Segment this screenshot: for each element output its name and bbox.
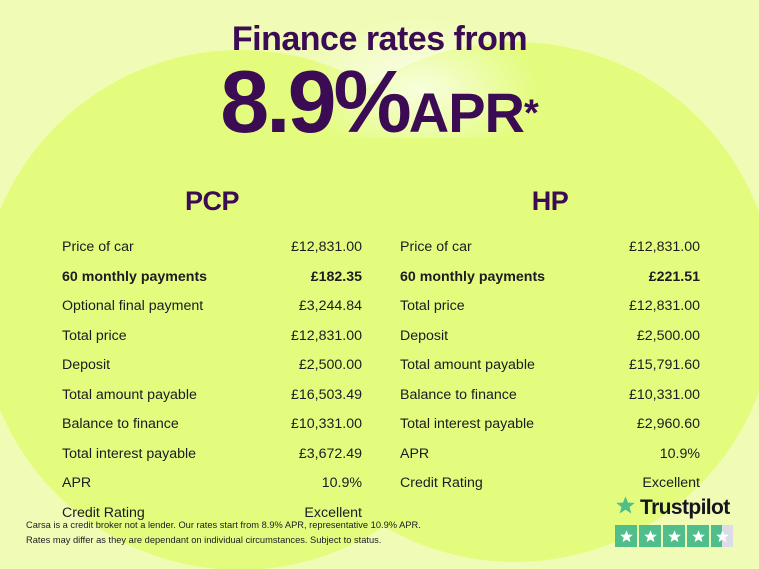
- plan-row-label: Total price: [62, 326, 127, 346]
- plan-row-label: 60 monthly payments: [62, 267, 207, 287]
- plan-row: APR10.9%: [400, 442, 700, 466]
- plan-row-label: Balance to finance: [62, 414, 179, 434]
- apr-headline: 8.9%APR*: [0, 58, 759, 146]
- plan-row-label: Total interest payable: [62, 444, 196, 464]
- trustpilot-name: Trustpilot: [640, 496, 730, 520]
- plan-row-value: £2,960.60: [637, 414, 700, 434]
- trustpilot-full-star-icon: [615, 525, 637, 547]
- plan-row-label: Deposit: [62, 355, 110, 375]
- plan-row: Optional final payment£3,244.84: [62, 294, 362, 318]
- plan-rows-hp: Price of car£12,831.0060 monthly payment…: [400, 235, 700, 495]
- plan-row: Total amount payable£16,503.49: [62, 383, 362, 407]
- plan-row-label: APR: [400, 444, 429, 464]
- apr-asterisk: *: [524, 93, 539, 135]
- plan-row-label: Credit Rating: [400, 473, 483, 493]
- plan-rows-pcp: Price of car£12,831.0060 monthly payment…: [62, 235, 362, 525]
- apr-rate-value: 8.9%: [220, 52, 409, 151]
- plan-row: APR10.9%: [62, 471, 362, 495]
- plan-row-label: Price of car: [62, 237, 134, 257]
- plan-row-value: Excellent: [642, 473, 700, 493]
- plan-row-value: £182.35: [311, 267, 362, 287]
- plan-row-value: 10.9%: [660, 444, 700, 464]
- plan-row-value: £3,672.49: [299, 444, 362, 464]
- plan-row-value: £12,831.00: [291, 237, 362, 257]
- infographic-canvas: Finance rates from 8.9%APR* PCP Price of…: [0, 0, 759, 569]
- trustpilot-badge[interactable]: Trustpilot: [615, 495, 737, 547]
- plan-row-label: 60 monthly payments: [400, 267, 545, 287]
- plan-row: Price of car£12,831.00: [400, 235, 700, 259]
- plan-row: Credit RatingExcellent: [400, 471, 700, 495]
- plan-row-value: £2,500.00: [637, 326, 700, 346]
- plan-row-value: £16,503.49: [291, 385, 362, 405]
- apr-unit-label: APR: [409, 81, 524, 144]
- plan-row-label: Optional final payment: [62, 296, 203, 316]
- plan-row-label: Total amount payable: [400, 355, 535, 375]
- plan-row-value: £10,331.00: [291, 414, 362, 434]
- trustpilot-star-icon: [615, 495, 636, 521]
- plan-row-value: 10.9%: [322, 473, 362, 493]
- plan-row: Total interest payable£2,960.60: [400, 412, 700, 436]
- plan-title-pcp: PCP: [62, 186, 362, 217]
- trustpilot-half-star-icon: [711, 525, 733, 547]
- plan-row: Balance to finance£10,331.00: [400, 383, 700, 407]
- trustpilot-wordmark: Trustpilot: [615, 495, 737, 521]
- plan-row-value: £3,244.84: [299, 296, 362, 316]
- plan-row-value: £2,500.00: [299, 355, 362, 375]
- plan-row-value: £15,791.60: [629, 355, 700, 375]
- plan-row: Deposit£2,500.00: [400, 324, 700, 348]
- plan-row: 60 monthly payments£182.35: [62, 265, 362, 289]
- plan-row: Total price£12,831.00: [62, 324, 362, 348]
- plan-row-value: £12,831.00: [291, 326, 362, 346]
- plan-row-label: Price of car: [400, 237, 472, 257]
- plan-column-pcp: PCP Price of car£12,831.0060 monthly pay…: [62, 186, 362, 530]
- disclaimer-line-1: Carsa is a credit broker not a lender. O…: [26, 518, 446, 532]
- trustpilot-star-rating: [615, 525, 737, 547]
- plan-row-label: Deposit: [400, 326, 448, 346]
- plan-row: Price of car£12,831.00: [62, 235, 362, 259]
- plan-title-hp: HP: [400, 186, 700, 217]
- plan-row-label: Total interest payable: [400, 414, 534, 434]
- plan-row: Balance to finance£10,331.00: [62, 412, 362, 436]
- plan-row-label: APR: [62, 473, 91, 493]
- plan-row-label: Balance to finance: [400, 385, 517, 405]
- content-layer: Finance rates from 8.9%APR* PCP Price of…: [0, 0, 759, 569]
- plan-row: 60 monthly payments£221.51: [400, 265, 700, 289]
- plan-row-label: Total price: [400, 296, 465, 316]
- plan-row-value: £10,331.00: [629, 385, 700, 405]
- trustpilot-full-star-icon: [639, 525, 661, 547]
- legal-disclaimer: Carsa is a credit broker not a lender. O…: [26, 518, 446, 547]
- disclaimer-line-2: Rates may differ as they are dependant o…: [26, 533, 446, 547]
- plan-column-hp: HP Price of car£12,831.0060 monthly paym…: [400, 186, 700, 501]
- plan-row-value: £12,831.00: [629, 237, 700, 257]
- plan-row: Deposit£2,500.00: [62, 353, 362, 377]
- plan-row: Total amount payable£15,791.60: [400, 353, 700, 377]
- trustpilot-full-star-icon: [687, 525, 709, 547]
- plan-row-value: £221.51: [649, 267, 700, 287]
- trustpilot-full-star-icon: [663, 525, 685, 547]
- plan-row: Total interest payable£3,672.49: [62, 442, 362, 466]
- plan-row-label: Total amount payable: [62, 385, 197, 405]
- plan-row: Total price£12,831.00: [400, 294, 700, 318]
- plan-row-value: £12,831.00: [629, 296, 700, 316]
